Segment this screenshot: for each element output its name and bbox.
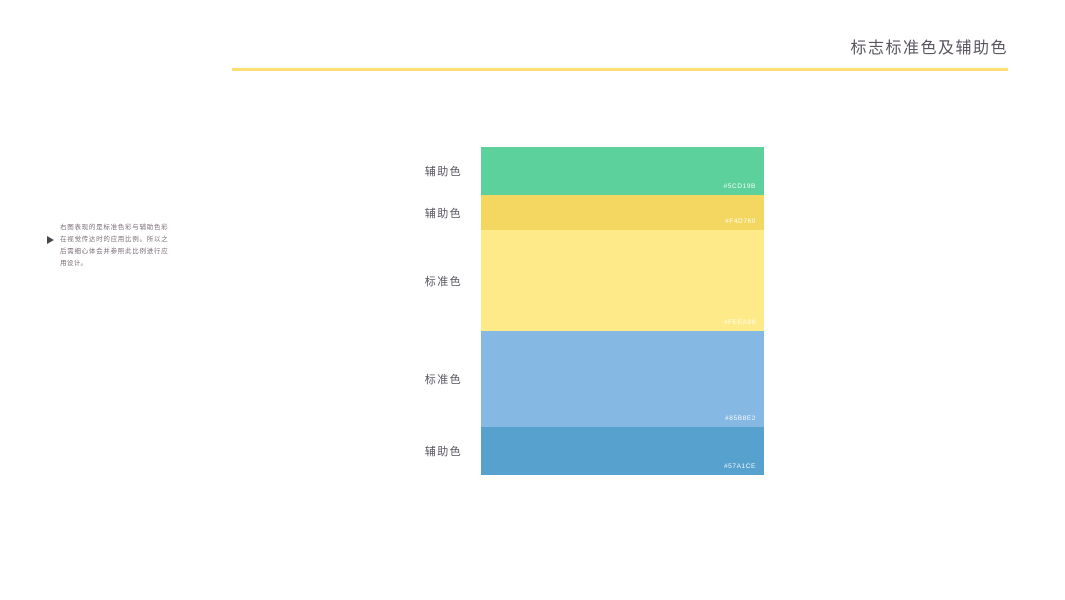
color-palette: 辅助色#5CD19B辅助色#F4D760标准色#FEEA88标准色#85B8E2…: [481, 147, 764, 475]
triangle-right-icon: [47, 236, 54, 244]
page-title: 标志标准色及辅助色: [850, 34, 1008, 58]
color-swatch[interactable]: 辅助色#57A1CE: [481, 427, 764, 475]
swatch-hex-code: #F4D760: [725, 218, 756, 225]
swatch-label: 辅助色: [425, 163, 462, 179]
swatch-label: 标准色: [425, 371, 462, 387]
header-divider: [232, 68, 1008, 71]
color-swatch[interactable]: 标准色#85B8E2: [481, 331, 764, 427]
description-text: 右图表现的是标准色彩与辅助色彩在视觉传达时的应用比例。所以之后需细心体会并参照此…: [60, 222, 168, 270]
swatch-label: 标准色: [425, 273, 462, 289]
description-block: 右图表现的是标准色彩与辅助色彩在视觉传达时的应用比例。所以之后需细心体会并参照此…: [47, 222, 177, 270]
color-swatch[interactable]: 辅助色#5CD19B: [481, 147, 764, 195]
color-swatch[interactable]: 标准色#FEEA88: [481, 230, 764, 331]
swatch-hex-code: #FEEA88: [724, 319, 756, 326]
swatch-label: 辅助色: [425, 205, 462, 221]
swatch-label: 辅助色: [425, 443, 462, 459]
swatch-hex-code: #85B8E2: [725, 415, 756, 422]
swatch-hex-code: #5CD19B: [724, 183, 756, 190]
swatch-hex-code: #57A1CE: [724, 463, 756, 470]
page-header: 标志标准色及辅助色: [0, 0, 1065, 80]
color-swatch[interactable]: 辅助色#F4D760: [481, 195, 764, 230]
